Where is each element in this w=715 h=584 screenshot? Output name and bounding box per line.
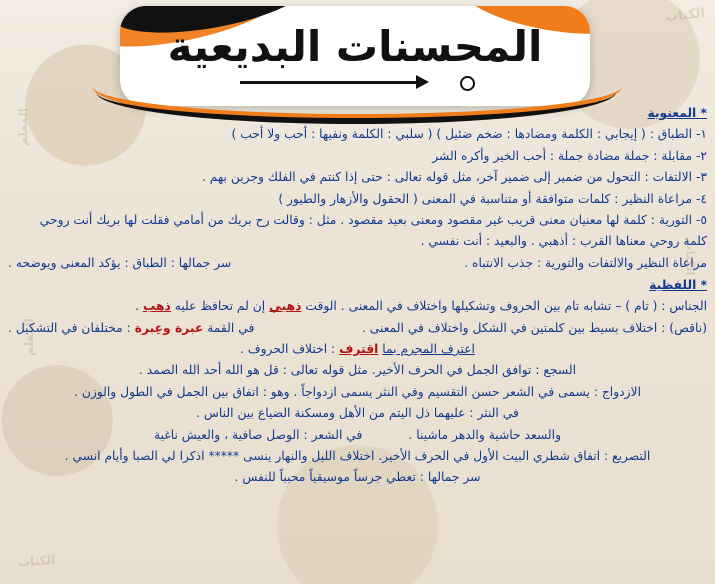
naqis-example-words: عبرة وعِبرة [135,321,204,335]
naqis-example-suffix: : مختلفان في التشكيل . [8,321,131,335]
izdiwaj-shir-row: والسعد حاشية والدهر ماشينا . في الشعر : … [8,426,707,446]
example2-part-c: : اختلاف الحروف . [240,342,335,356]
jinas-end: . [135,299,139,313]
maanawiya-item-3: ٣- الالتفات : التحول من ضمير إلى ضمير آخ… [8,168,707,188]
izdiwaj-line: الازدواج : يسمى في الشعر حسن التقسيم وفي… [8,383,707,403]
jinas-naqis-row: (ناقص) : اختلاف بسيط بين كلمتين في الشكل… [8,319,707,339]
section-heading-lafziya: * اللفظية [8,276,707,296]
page-title: المحسنات البديعية [120,22,590,71]
maanawiya-item-1: ١- الطباق : ( إيجابي : الكلمة ومضادها : … [8,125,707,145]
sajaa-line: السجع : توافق الجمل في الحرف الأخير. مثل… [8,361,707,381]
maanawiya-item-2: ٢- مقابلة : جملة مضادة جملة : أحب الخير … [8,147,707,167]
maanawiya-beauty-row: مراعاة النظير والالتفات والتورية : جذب ا… [8,254,707,274]
lesson-content: * المعنوية ١- الطباق : ( إيجابي : الكلمة… [8,104,707,490]
maanawiya-note: كلمة روحي معناها القرب : أذهبي . والبعيد… [8,232,707,252]
example2-part-a: اعترف المجرم بما [382,342,475,356]
naqis-example-prefix: في القمة [207,321,254,335]
jinas-naqis-definition: (ناقص) : اختلاف بسيط بين كلمتين في الشكل… [362,319,707,339]
maanawiya-item-4: ٤- مراعاة النظير : كلمات متوافقة أو متنا… [8,190,707,210]
jinas-word-2: ذهب [143,299,171,313]
page-background: الكتاب المعلم المعلم الكتاب الكتاب المحس… [0,0,715,584]
arrow-line [240,81,420,84]
jinas-second-example: اعترف المجرم بما اقترف : اختلاف الحروف . [8,340,707,360]
maanawiya-item-5: ٥- التورية : كلمة لها معنيان معنى قريب غ… [8,211,707,231]
watermark-bottom-left: الكتاب [18,553,56,570]
lafziya-beauty-line: سر جمالها : تعطي جرساً موسيقياً محبباً ل… [8,468,707,488]
shir-right-hemistich: والسعد حاشية والدهر ماشينا . [408,426,561,446]
watermark-top-right: الكتاب [664,6,706,25]
shir-left-hemistich: في الشعر : الوصل صافية ، والعيش ناغية [154,426,362,446]
section-heading-maanawiya: * المعنوية [8,104,707,124]
jinas-line: الجناس : ( تام ) – تشابه تام بين الحروف … [8,297,707,317]
example2-part-b: اقترف [339,342,378,356]
tasri-line: التصريع : اتفاق شطري البيت الأول في الحر… [8,447,707,467]
izdiwaj-nathr-line: في النثر : عليهما ذل اليتم من الأهل ومسك… [8,404,707,424]
jinas-head: الجناس : ( تام ) – تشابه تام بين الحروف … [305,299,707,313]
jinas-word-1: ذهبي [269,299,301,313]
jinas-mid: إن لم تحافظ عليه [175,299,265,313]
jinas-naqis-example: في القمة عبرة وعِبرة : مختلفان في التشكي… [8,319,254,339]
maanawiya-beauty-left: سر جمالها : الطباق : يؤكد المعنى ويوضحه … [8,254,231,274]
maanawiya-beauty-right: مراعاة النظير والالتفات والتورية : جذب ا… [464,254,707,274]
